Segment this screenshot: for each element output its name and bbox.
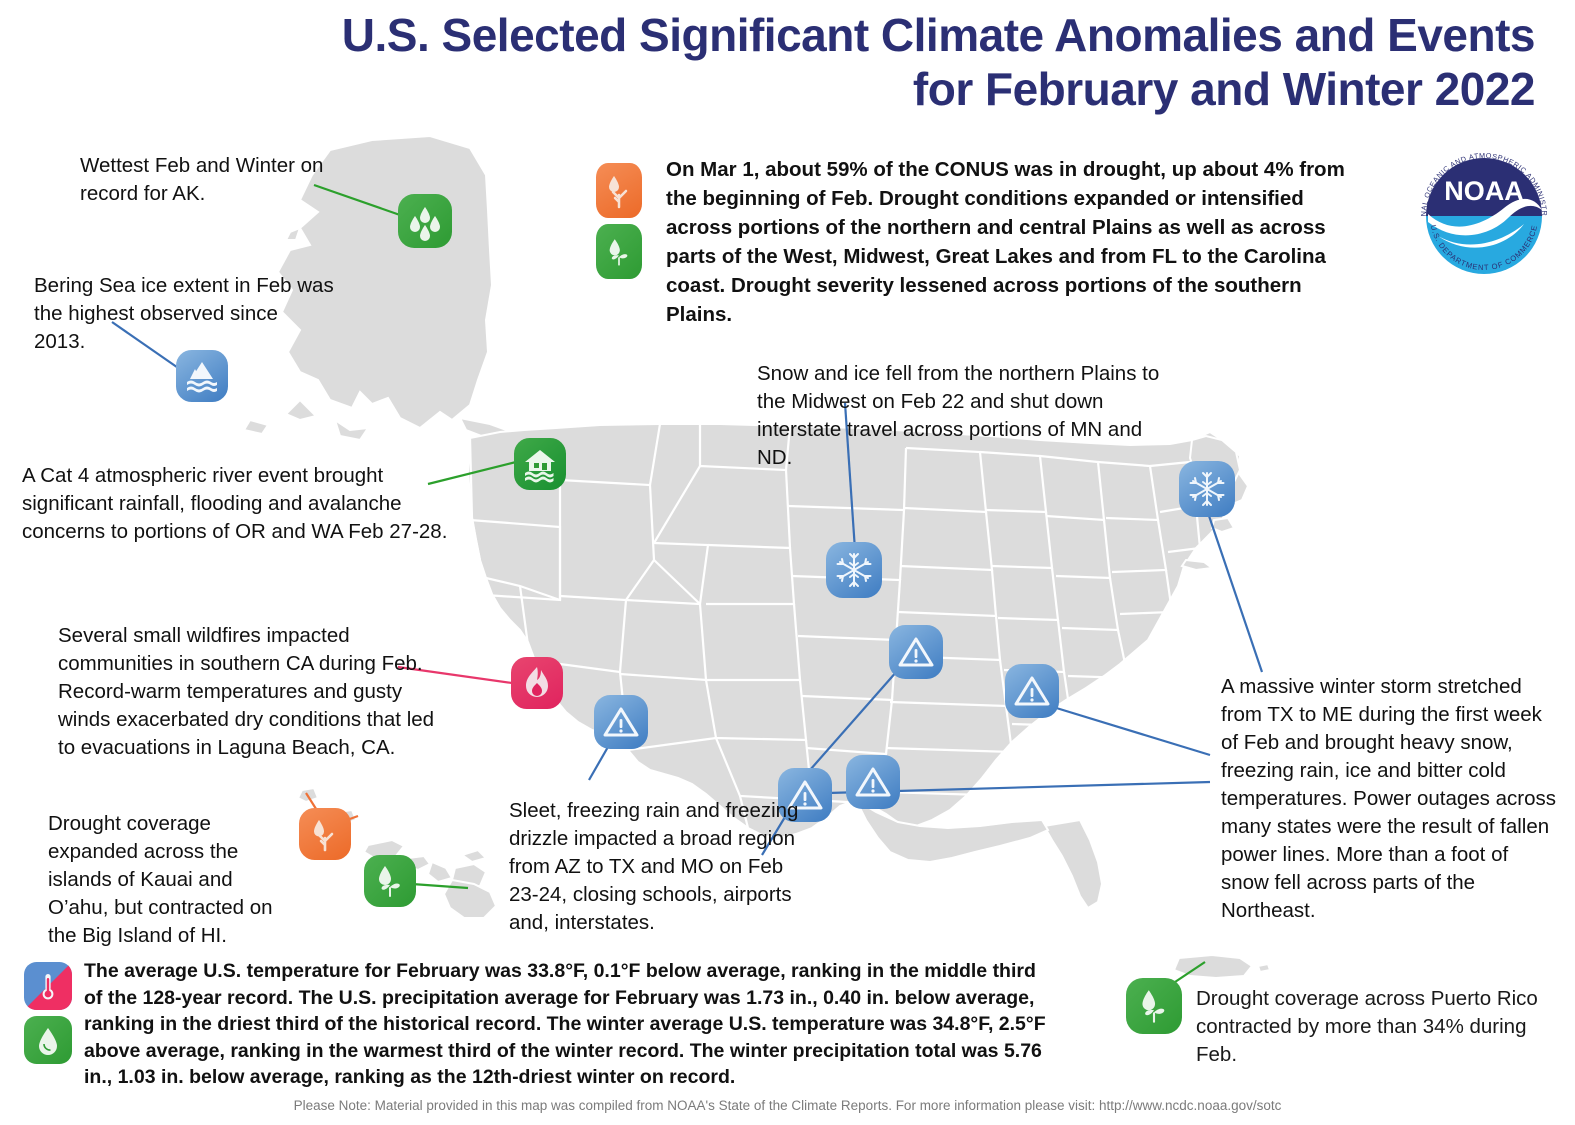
title-line-1: U.S. Selected Significant Climate Anomal… [0,8,1535,62]
drought-expand-icon[interactable] [596,163,642,218]
warning-triangle-icon[interactable] [1005,664,1059,718]
drought-contract-icon[interactable] [596,224,642,279]
callout-bering-ice: Bering Sea ice extent in Feb was the hig… [34,272,334,356]
callout-sleet-freezing-rain: Sleet, freezing rain and freezing drizzl… [509,797,799,937]
drought-expand-icon[interactable] [299,808,351,860]
callout-alaska-precip: Wettest Feb and Winter on record for AK. [80,152,330,208]
drought-contract-icon[interactable] [1126,978,1182,1034]
connector-storm-tn [1040,703,1210,755]
callout-atmospheric-river: A Cat 4 atmospheric river event brought … [22,462,472,546]
connector-storm-mo [810,662,905,770]
puerto-rico-landmass [1174,955,1270,978]
footer-note: Please Note: Material provided in this m… [0,1098,1575,1113]
raindrops-icon[interactable] [398,194,452,248]
callout-drought-conus: On Mar 1, about 59% of the CONUS was in … [666,155,1366,329]
warning-triangle-icon[interactable] [889,625,943,679]
summary-statistics: The average U.S. temperature for Februar… [84,958,1059,1091]
noaa-logo: NOAA NATIONAL OCEANIC AND ATMOSPHERIC AD… [1408,140,1560,292]
summary-icon-group [24,962,72,1064]
callout-drought-hawaii: Drought coverage expanded across the isl… [48,810,298,950]
callout-puerto-rico: Drought coverage across Puerto Rico cont… [1196,985,1566,1069]
callout-snow-ice-plains: Snow and ice fell from the northern Plai… [757,360,1177,472]
drought-contract-icon[interactable] [364,855,416,907]
noaa-wordmark: NOAA [1444,176,1524,206]
snowflake-icon[interactable] [1179,461,1235,517]
precipitation-drop-icon[interactable] [24,1016,72,1064]
warning-triangle-icon[interactable] [594,695,648,749]
summary-text: The average U.S. temperature for Februar… [84,958,1059,1091]
connector-hawaii-bigisland [412,884,468,888]
page-title: U.S. Selected Significant Climate Anomal… [0,8,1555,116]
connector-storm-ne [1207,510,1262,672]
iceberg-icon[interactable] [176,350,228,402]
callout-wildfires-ca: Several small wildfires impacted communi… [58,622,448,762]
snowflake-icon[interactable] [826,542,882,598]
title-line-2: for February and Winter 2022 [0,62,1535,116]
callout-winter-storm: A massive winter storm stretched from TX… [1221,673,1556,925]
warning-triangle-icon[interactable] [846,755,900,809]
wildfire-flame-icon[interactable] [511,657,563,709]
thermometer-icon[interactable] [24,962,72,1010]
flood-house-icon[interactable] [514,438,566,490]
